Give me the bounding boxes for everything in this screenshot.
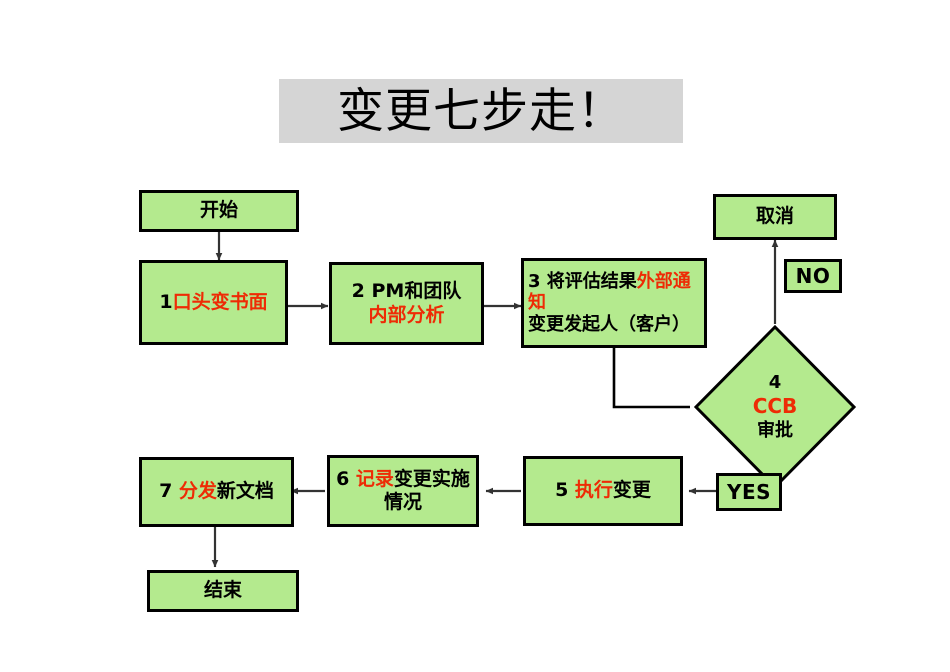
node-step3-number: 3 xyxy=(528,271,547,292)
node-step3[interactable]: 3 将评估结果外部通知变更发起人（客户） xyxy=(521,258,707,348)
node-step7[interactable]: 7 分发新文档 xyxy=(139,457,294,527)
node-decision[interactable]: 4 CCB 审批 xyxy=(693,324,857,490)
node-step3-text: 3 将评估结果外部通知变更发起人（客户） xyxy=(528,271,700,336)
node-step7-tail: 新文档 xyxy=(217,480,274,502)
node-step7-number: 7 xyxy=(159,480,179,502)
node-cancel-label: 取消 xyxy=(756,205,794,228)
node-step6-number: 6 xyxy=(336,468,356,490)
node-step6[interactable]: 6 记录变更实施情况 xyxy=(327,455,479,527)
node-step2-highlight: 内部分析 xyxy=(368,304,444,326)
node-step1-number: 1 xyxy=(159,291,172,313)
node-end-label: 结束 xyxy=(204,579,242,602)
label-no: NO xyxy=(784,259,842,293)
flowchart-canvas: 变更七步走！ 开始 1口头变书面 xyxy=(0,0,950,672)
node-step2-lead: PM和团队 xyxy=(372,280,462,302)
node-start[interactable]: 开始 xyxy=(139,190,299,232)
node-step5-highlight: 执行 xyxy=(575,479,613,501)
node-end[interactable]: 结束 xyxy=(147,570,299,612)
node-step6-highlight: 记录 xyxy=(356,468,394,490)
decision-diamond-shape xyxy=(693,324,857,490)
node-step1-highlight: 口头变书面 xyxy=(173,291,268,313)
node-step5-number: 5 xyxy=(555,479,575,501)
node-step2-text: 2 PM和团队 内部分析 xyxy=(352,280,462,326)
node-step3-tail: 变更发起人（客户） xyxy=(528,314,690,335)
node-step5-text: 5 执行变更 xyxy=(555,479,651,502)
label-no-text: NO xyxy=(796,264,831,288)
label-yes-text: YES xyxy=(727,480,771,504)
title-banner: 变更七步走！ xyxy=(279,79,683,143)
label-yes: YES xyxy=(716,473,782,511)
node-step2[interactable]: 2 PM和团队 内部分析 xyxy=(329,262,484,345)
node-step7-highlight: 分发 xyxy=(179,480,217,502)
node-step6-text: 6 记录变更实施情况 xyxy=(334,468,472,514)
node-step7-text: 7 分发新文档 xyxy=(159,480,274,503)
node-start-label: 开始 xyxy=(200,199,238,222)
node-step5[interactable]: 5 执行变更 xyxy=(523,456,683,526)
edge-step3-to-decision xyxy=(614,347,690,407)
node-step1-text: 1口头变书面 xyxy=(159,291,267,314)
page-title: 变更七步走！ xyxy=(337,88,625,135)
node-step2-number: 2 xyxy=(352,280,372,302)
node-cancel[interactable]: 取消 xyxy=(713,194,837,240)
node-step1[interactable]: 1口头变书面 xyxy=(139,260,288,345)
node-step5-tail: 变更 xyxy=(613,479,651,501)
node-step3-lead: 将评估结果 xyxy=(547,271,637,292)
node-step6-tail: 变更实施情况 xyxy=(384,468,470,513)
